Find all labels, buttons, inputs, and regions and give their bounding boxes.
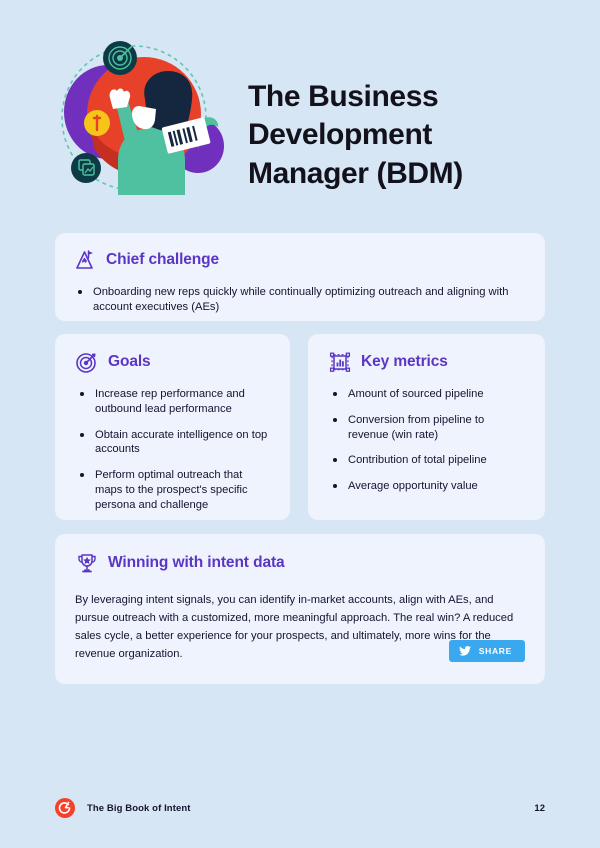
bar-chart-frame-icon xyxy=(328,350,352,374)
share-row: SHARE xyxy=(449,640,525,662)
list-item: Onboarding new reps quickly while contin… xyxy=(73,285,525,315)
footer: The Big Book of Intent 12 xyxy=(55,798,545,818)
page-title: The Business Development Manager (BDM) xyxy=(248,78,463,193)
card-winning-with-intent-data: Winning with intent data By leveraging i… xyxy=(55,534,545,684)
goals-bullet-list: Increase rep performance and outbound le… xyxy=(75,387,270,512)
card-title: Goals xyxy=(108,353,151,371)
page-title-line-1: The Business xyxy=(248,80,438,113)
mountain-flag-icon xyxy=(73,248,97,272)
page-number: 12 xyxy=(534,803,545,814)
page-root: The Business Development Manager (BDM) C… xyxy=(0,0,600,848)
card-title: Winning with intent data xyxy=(108,554,285,572)
metrics-bullet-list: Amount of sourced pipeline Conversion fr… xyxy=(328,387,527,494)
coin-badge-icon xyxy=(84,110,110,136)
list-item: Increase rep performance and outbound le… xyxy=(75,387,270,417)
g2-logo-icon xyxy=(55,798,75,818)
card-title: Key metrics xyxy=(361,353,448,371)
card-chief-challenge: Chief challenge Onboarding new reps quic… xyxy=(55,233,545,321)
list-item: Contribution of total pipeline xyxy=(328,453,527,468)
list-item: Average opportunity value xyxy=(328,479,527,494)
page-title-line-2: Development xyxy=(248,118,432,151)
share-button-label: SHARE xyxy=(479,646,512,656)
card-header: Chief challenge xyxy=(73,248,525,272)
list-item: Perform optimal outreach that maps to th… xyxy=(75,468,270,512)
list-item: Obtain accurate intelligence on top acco… xyxy=(75,428,270,458)
card-header: Winning with intent data xyxy=(75,551,523,575)
trophy-icon xyxy=(75,551,99,575)
twitter-bird-icon xyxy=(459,646,471,656)
page-title-line-3: Manager (BDM) xyxy=(248,157,463,190)
bdm-persona-illustration xyxy=(46,30,236,195)
list-item: Amount of sourced pipeline xyxy=(328,387,527,402)
card-key-metrics: Key metrics Amount of sourced pipeline C… xyxy=(308,334,545,520)
chart-badge-icon xyxy=(71,153,101,183)
card-goals: Goals Increase rep performance and outbo… xyxy=(55,334,290,520)
card-header: Goals xyxy=(75,350,270,374)
challenge-bullet-list: Onboarding new reps quickly while contin… xyxy=(73,285,525,315)
hero-section: The Business Development Manager (BDM) xyxy=(0,30,600,215)
card-header: Key metrics xyxy=(328,350,527,374)
card-title: Chief challenge xyxy=(106,251,219,269)
share-button[interactable]: SHARE xyxy=(449,640,525,662)
target-badge-icon xyxy=(103,41,137,75)
target-icon xyxy=(75,350,99,374)
footer-book-title: The Big Book of Intent xyxy=(87,803,191,814)
list-item: Conversion from pipeline to revenue (win… xyxy=(328,413,527,443)
